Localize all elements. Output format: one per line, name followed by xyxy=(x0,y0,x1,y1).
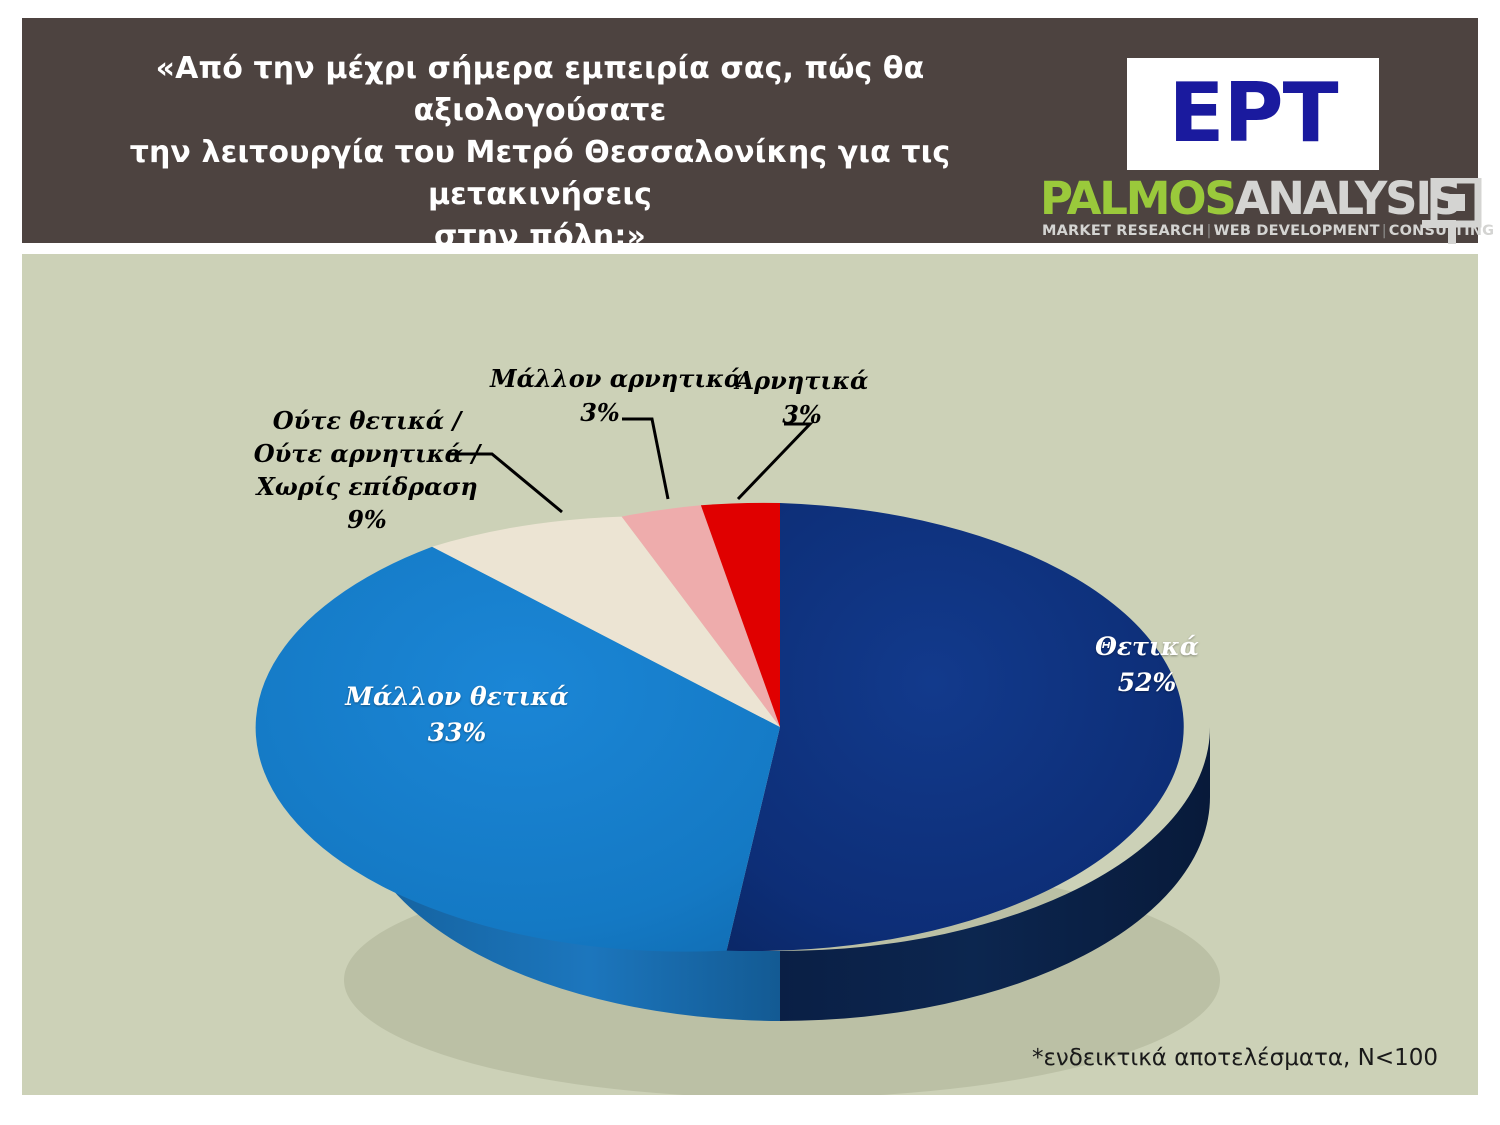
tagline-separator-1: | xyxy=(1204,223,1213,239)
tagline-separator-2: | xyxy=(1380,223,1389,239)
ert-logo-text: ΕΡΤ xyxy=(1168,73,1337,155)
slice-label-neutral-text: Ούτε θετικά / Ούτε αρνητικά / Χωρίς επίδ… xyxy=(254,406,481,501)
slice-label-negative: Αρνητικά 3% xyxy=(722,364,882,432)
slice-label-positive-pct: 52% xyxy=(1118,668,1177,697)
leader-line-rather-negative xyxy=(622,419,668,499)
slice-label-positive: Θετικά 52% xyxy=(1052,629,1242,701)
question-line-1: «Από την μέχρι σήμερα εμπειρία σας, πώς … xyxy=(38,48,1042,132)
slice-label-rather-positive: Μάλλον θετικά 33% xyxy=(332,679,582,751)
palmos-wordmark: PALMOSANALYSIS xyxy=(1040,176,1460,222)
slice-label-rather-positive-pct: 33% xyxy=(428,718,487,747)
ert-logo: ΕΡΤ xyxy=(1127,58,1379,170)
chart-card: Ούτε θετικά / Ούτε αρνητικά / Χωρίς επίδ… xyxy=(22,254,1478,1095)
leader-line-negative xyxy=(738,424,810,499)
slice-label-neutral: Ούτε θετικά / Ούτε αρνητικά / Χωρίς επίδ… xyxy=(252,404,482,536)
slice-label-rather-negative: Μάλλον αρνητικά 3% xyxy=(490,362,710,430)
slice-label-positive-text: Θετικά xyxy=(1095,632,1199,661)
slice-label-negative-text: Αρνητικά xyxy=(736,366,869,395)
palmos-analysis-logo: PALMOSANALYSIS MARKET RESEARCH|WEB DEVEL… xyxy=(1040,176,1485,248)
tagline-market-research: MARKET RESEARCH xyxy=(1042,223,1204,239)
slice-label-rather-negative-pct: 3% xyxy=(490,396,710,430)
palmos-square-mark-icon xyxy=(1422,178,1482,244)
chart-footnote: *ενδεικτικά αποτελέσματα, N<100 xyxy=(1032,1045,1438,1071)
slice-label-neutral-pct: 9% xyxy=(252,503,482,536)
question-line-2: την λειτουργία του Μετρό Θεσσαλονίκης γι… xyxy=(38,132,1042,216)
page-title: «Από την μέχρι σήμερα εμπειρία σας, πώς … xyxy=(30,48,1050,258)
question-line-3: στην πόλη;» xyxy=(38,216,1042,258)
slice-label-rather-positive-text: Μάλλον θετικά xyxy=(345,682,568,711)
palmos-word-part1: PALMOS xyxy=(1040,172,1235,225)
slice-label-rather-negative-text: Μάλλον αρνητικά xyxy=(490,364,742,393)
header-band: «Από την μέχρι σήμερα εμπειρία σας, πώς … xyxy=(22,18,1478,243)
slice-label-negative-pct: 3% xyxy=(722,398,882,432)
tagline-web-development: WEB DEVELOPMENT xyxy=(1214,223,1380,239)
